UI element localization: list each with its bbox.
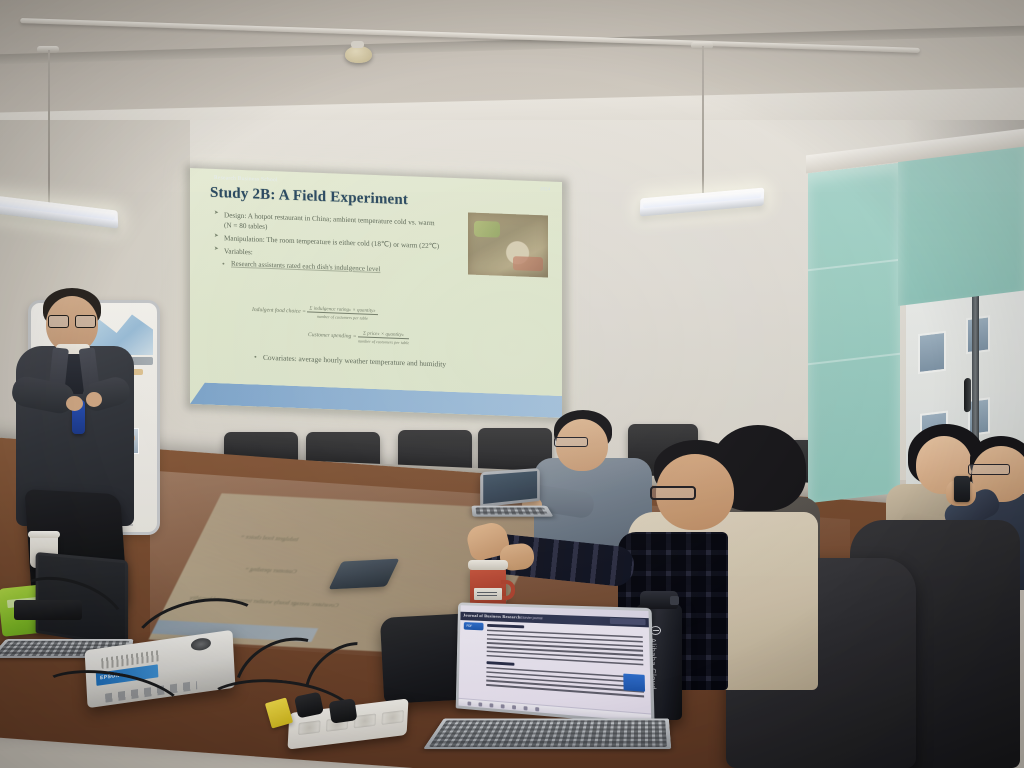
slide-title: Study 2B: A Field Experiment bbox=[210, 185, 550, 215]
journal-title: Journal of Business Research bbox=[463, 613, 520, 620]
power-socket[interactable] bbox=[298, 720, 320, 735]
pdf-download-button[interactable]: PDF bbox=[464, 622, 484, 630]
window-handle[interactable] bbox=[964, 378, 971, 413]
power-plug[interactable] bbox=[329, 698, 358, 723]
journal-header-badge[interactable] bbox=[610, 618, 646, 625]
toolbar-icon[interactable] bbox=[478, 702, 482, 706]
slide-formula-2: Customer spending = Σ priceₖ × quantityₖ… bbox=[308, 328, 409, 344]
laptop-foreground[interactable]: Journal of Business Research Elsevier jo… bbox=[432, 604, 672, 764]
laptop-keyboard[interactable] bbox=[429, 720, 667, 747]
toolbar-icon[interactable] bbox=[524, 706, 528, 710]
power-socket[interactable] bbox=[381, 710, 403, 725]
power-socket[interactable] bbox=[354, 713, 376, 728]
reflection-text: Customer spending = bbox=[244, 567, 298, 576]
slide-footer-text: Research Business School bbox=[214, 175, 278, 183]
power-adapter[interactable] bbox=[14, 600, 82, 620]
laptop-attendee[interactable] bbox=[472, 470, 550, 526]
projector-brand-text: EPSON bbox=[100, 673, 120, 682]
smoke-detector-icon bbox=[345, 46, 372, 63]
blind-seam bbox=[808, 353, 900, 365]
reflection-text: Indulgent food choice = bbox=[239, 534, 299, 543]
projection-screen: Study 2B: A Field Experiment Design: A h… bbox=[190, 168, 562, 418]
glasses-icon bbox=[554, 437, 588, 447]
projector-lens bbox=[191, 637, 212, 652]
laptop-lid: Journal of Business Research Elsevier jo… bbox=[456, 602, 655, 725]
formula-label: Customer spending = bbox=[308, 332, 357, 340]
laptop-keyboard[interactable] bbox=[476, 508, 549, 515]
slide-hotpot-photo bbox=[468, 212, 548, 277]
laptop-base[interactable] bbox=[423, 718, 671, 749]
toolbar-icon[interactable] bbox=[468, 701, 472, 705]
formula-fraction: Σ indulgence ratingₖ × quantityₖ number … bbox=[307, 305, 377, 320]
lamp-rod bbox=[702, 46, 704, 201]
browser-window[interactable]: Journal of Business Research Elsevier jo… bbox=[458, 605, 651, 722]
exterior-window bbox=[918, 331, 946, 374]
formula-label: Indulgent food choice = bbox=[252, 307, 306, 315]
smartphone[interactable] bbox=[954, 476, 970, 502]
slide-formula-1: Indulgent food choice = Σ indulgence rat… bbox=[252, 303, 378, 320]
toolbar-icon[interactable] bbox=[535, 707, 539, 711]
article-heading bbox=[487, 624, 524, 628]
formula-denominator: number of customers per table bbox=[358, 337, 409, 344]
seminar-room-photo: Study 2B: A Field Experiment Design: A h… bbox=[0, 0, 1024, 768]
slide-bullet-list: Design: A hotpot restaurant in China; am… bbox=[214, 210, 442, 264]
glasses-icon bbox=[968, 464, 1010, 475]
laptop-lid bbox=[480, 468, 540, 507]
laptop-display bbox=[483, 471, 537, 504]
toolbar-icon[interactable] bbox=[490, 703, 494, 707]
slide-footer-page: 2024 bbox=[540, 187, 550, 192]
lamp-rod bbox=[48, 50, 50, 210]
presenter-hand bbox=[66, 396, 83, 411]
blind-seam bbox=[808, 259, 900, 271]
sidebar-card[interactable] bbox=[623, 674, 645, 692]
article-section-heading bbox=[487, 661, 515, 666]
toolbar-icon[interactable] bbox=[501, 704, 505, 708]
glasses-icon bbox=[650, 486, 696, 500]
laptop-base[interactable] bbox=[472, 506, 554, 517]
mug-label bbox=[474, 588, 502, 600]
slide-covariates: Covariates: average hourly weather tempe… bbox=[254, 352, 446, 370]
toolbar-icon[interactable] bbox=[512, 705, 516, 709]
mug-lid bbox=[468, 560, 508, 570]
ceiling-lamp-right bbox=[700, 46, 704, 201]
reflection-text: Covariates: average hourly weather tempe… bbox=[188, 596, 340, 610]
formula-fraction: Σ priceₖ × quantityₖ number of customers… bbox=[358, 330, 409, 344]
journal-subtitle: Elsevier journal bbox=[520, 615, 542, 620]
slide: Study 2B: A Field Experiment Design: A h… bbox=[190, 168, 562, 418]
ceiling-lamp-left bbox=[46, 50, 50, 210]
pdf-button-label: PDF bbox=[466, 624, 472, 628]
glasses-icon bbox=[48, 315, 96, 326]
presenter-hand bbox=[86, 392, 102, 407]
article-paragraph bbox=[486, 667, 644, 700]
